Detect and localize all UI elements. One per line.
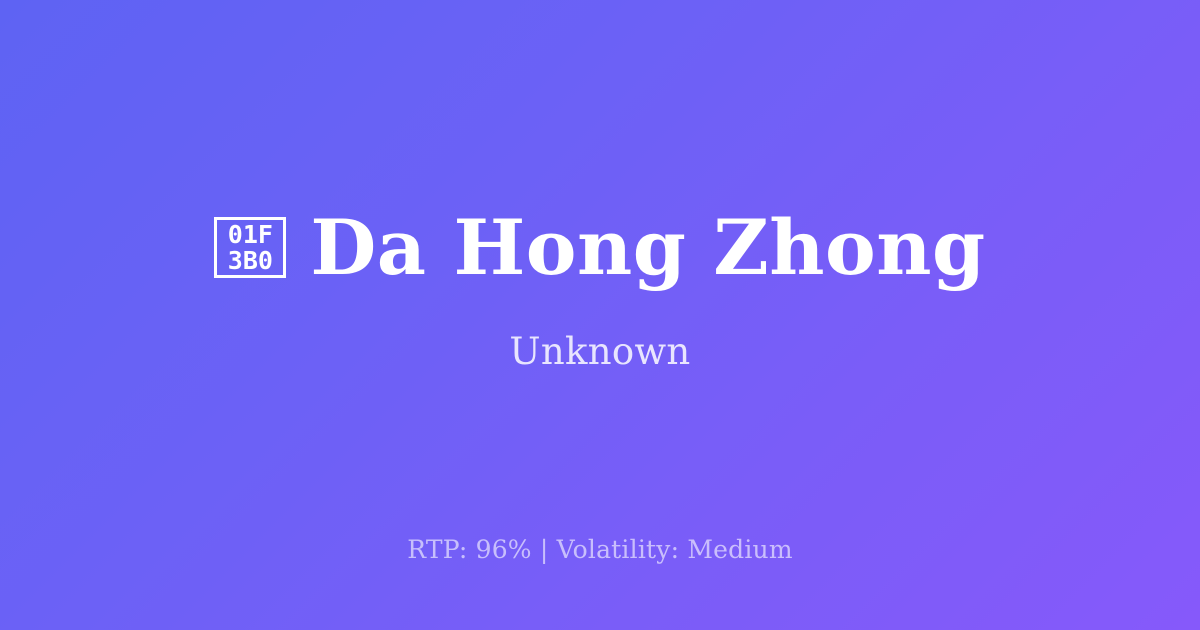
slot-machine-icon: 01F 3B0	[214, 217, 286, 278]
tofu-codepoint-line-2: 3B0	[228, 248, 273, 274]
title-row: 01F 3B0 Da Hong Zhong	[214, 210, 985, 286]
game-preview-card: 01F 3B0 Da Hong Zhong Unknown RTP: 96% |…	[0, 0, 1200, 630]
tofu-codepoint-line-1: 01F	[228, 222, 273, 248]
game-subtitle: Unknown	[509, 330, 690, 373]
game-title: Da Hong Zhong	[310, 210, 985, 286]
game-meta-line: RTP: 96% | Volatility: Medium	[0, 535, 1200, 564]
